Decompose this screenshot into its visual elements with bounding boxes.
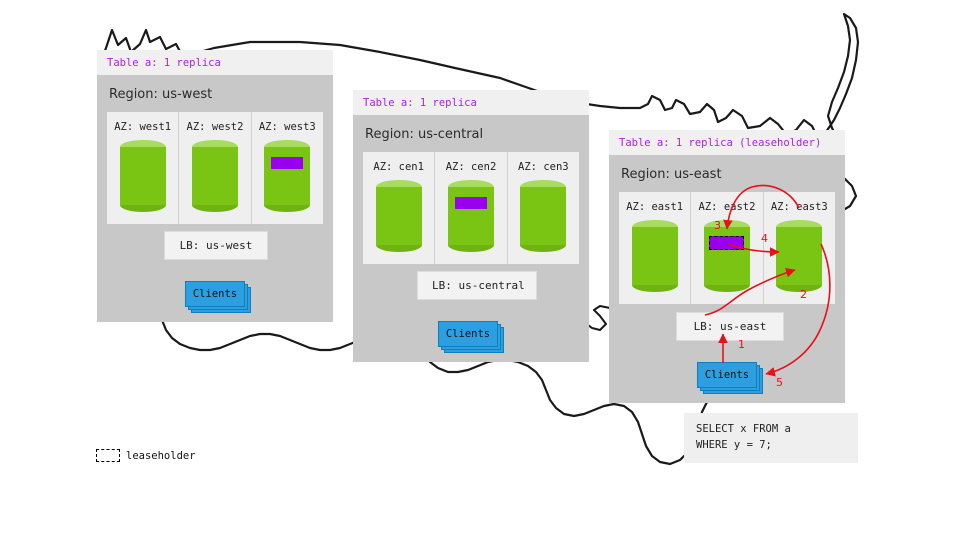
replica-marker-west3 <box>271 157 303 169</box>
arrow-label-5: 5 <box>776 376 783 389</box>
az-cell-east2[interactable]: AZ: east2 <box>691 192 763 304</box>
region-title-us-west: Region: us-west <box>97 75 333 112</box>
cylinder-body <box>776 227 822 285</box>
az-cell-cen3[interactable]: AZ: cen3 <box>508 152 579 264</box>
clients-label-us-east: Clients <box>697 362 757 388</box>
arrow-label-4: 4 <box>761 232 768 245</box>
region-panel-us-east: Table a: 1 replica (leaseholder) Region:… <box>609 130 845 413</box>
load-balancer-us-west[interactable]: LB: us-west <box>164 231 268 260</box>
cylinder-body <box>376 187 422 245</box>
legend-label: leaseholder <box>126 450 196 462</box>
clients-label-us-central: Clients <box>438 321 498 347</box>
az-cell-cen1[interactable]: AZ: cen1 <box>363 152 435 264</box>
node-cylinder-east3[interactable] <box>776 220 822 292</box>
arrow-label-2: 2 <box>800 288 807 301</box>
clients-us-central[interactable]: Clients <box>438 321 496 345</box>
arrow-label-3: 3 <box>714 219 721 232</box>
az-label-west3: AZ: west3 <box>252 121 323 133</box>
cylinder-body <box>192 147 238 205</box>
cylinder-body <box>120 147 166 205</box>
load-balancer-us-central[interactable]: LB: us-central <box>417 271 537 300</box>
az-label-east2: AZ: east2 <box>691 201 762 213</box>
region-header-us-east: Table a: 1 replica (leaseholder) <box>609 130 845 155</box>
az-cell-cen2[interactable]: AZ: cen2 <box>435 152 507 264</box>
sql-query-box: SELECT x FROM a WHERE y = 7; <box>684 413 858 463</box>
clients-us-east[interactable]: Clients <box>697 362 755 386</box>
leaseholder-replica-east2 <box>709 236 744 250</box>
az-label-west1: AZ: west1 <box>107 121 178 133</box>
legend: leaseholder <box>96 449 196 462</box>
region-header-us-central: Table a: 1 replica <box>353 90 589 115</box>
cylinder-body <box>632 227 678 285</box>
region-title-us-east: Region: us-east <box>609 155 845 192</box>
az-label-cen1: AZ: cen1 <box>363 161 434 173</box>
node-cylinder-cen3[interactable] <box>520 180 566 252</box>
az-label-east3: AZ: east3 <box>764 201 835 213</box>
clients-us-west[interactable]: Clients <box>185 281 243 305</box>
az-cell-west1[interactable]: AZ: west1 <box>107 112 179 224</box>
clients-label-us-west: Clients <box>185 281 245 307</box>
region-title-us-central: Region: us-central <box>353 115 589 152</box>
node-cylinder-cen2[interactable] <box>448 180 494 252</box>
az-row-us-west: AZ: west1 AZ: west2 AZ <box>107 112 323 224</box>
cylinder-body <box>520 187 566 245</box>
diagram-canvas: Table a: 1 replica Region: us-west AZ: w… <box>0 0 960 540</box>
cylinder-body <box>448 187 494 245</box>
az-cell-west2[interactable]: AZ: west2 <box>179 112 251 224</box>
region-panel-us-central: Table a: 1 replica Region: us-central AZ… <box>353 90 589 372</box>
az-label-east1: AZ: east1 <box>619 201 690 213</box>
node-cylinder-west3[interactable] <box>264 140 310 212</box>
az-cell-west3[interactable]: AZ: west3 <box>252 112 323 224</box>
az-label-west2: AZ: west2 <box>179 121 250 133</box>
az-cell-east1[interactable]: AZ: east1 <box>619 192 691 304</box>
node-cylinder-west1[interactable] <box>120 140 166 212</box>
arrow-label-1: 1 <box>738 338 745 351</box>
node-cylinder-east1[interactable] <box>632 220 678 292</box>
node-cylinder-east2[interactable] <box>704 220 750 292</box>
region-panel-us-west: Table a: 1 replica Region: us-west AZ: w… <box>97 50 333 332</box>
node-cylinder-west2[interactable] <box>192 140 238 212</box>
replica-marker-cen2 <box>455 197 487 209</box>
az-label-cen2: AZ: cen2 <box>435 161 506 173</box>
az-label-cen3: AZ: cen3 <box>508 161 579 173</box>
dashed-rect-icon <box>96 449 120 462</box>
load-balancer-us-east[interactable]: LB: us-east <box>676 312 784 341</box>
node-cylinder-cen1[interactable] <box>376 180 422 252</box>
az-row-us-central: AZ: cen1 AZ: cen2 <box>363 152 579 264</box>
cylinder-body <box>264 147 310 205</box>
region-header-us-west: Table a: 1 replica <box>97 50 333 75</box>
